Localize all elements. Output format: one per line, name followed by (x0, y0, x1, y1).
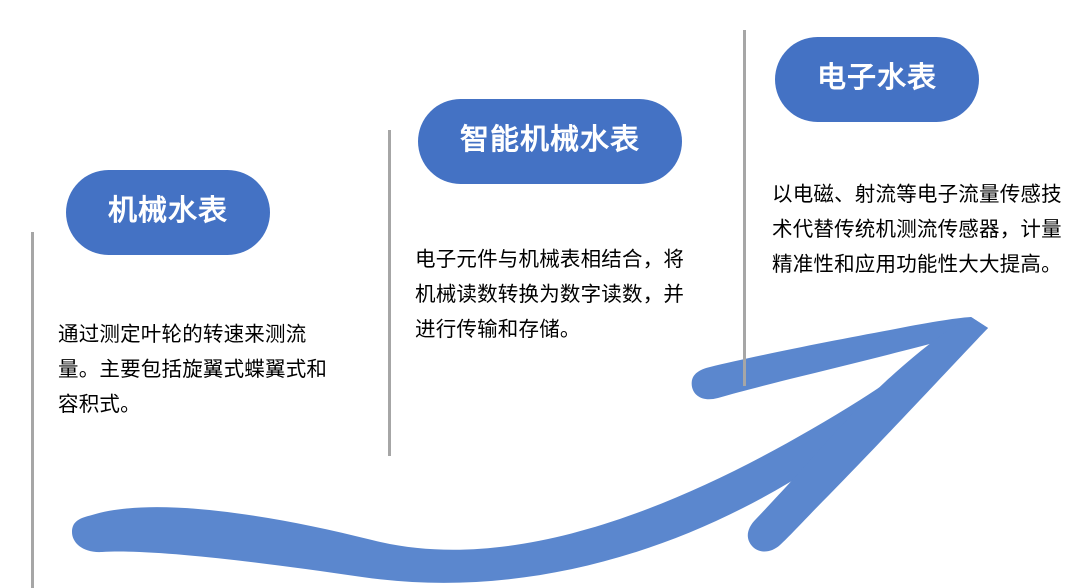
column-smart-mechanical-water-meter: 智能机械水表 电子元件与机械表相结合，将机械读数转换为数字读数，并进行传输和存储… (415, 99, 715, 347)
infographic-canvas: 机械水表 通过测定叶轮的转速来测流量。主要包括旋翼式蝶翼式和容积式。 智能机械水… (0, 0, 1080, 588)
divider-rule-3 (743, 30, 746, 386)
body-text-electronic-water-meter: 以电磁、射流等电子流量传感技术代替传统机测流传感器，计量精准性和应用功能性大大提… (772, 177, 1064, 282)
pill-label-mechanical-water-meter[interactable]: 机械水表 (66, 170, 270, 255)
arrow-barb-lower (748, 317, 988, 552)
divider-rule-1 (31, 232, 34, 588)
divider-rule-2 (388, 130, 391, 456)
pill-label-electronic-water-meter[interactable]: 电子水表 (775, 37, 979, 122)
arrow-barb-upper (692, 317, 988, 399)
body-text-smart-mechanical-water-meter: 电子元件与机械表相结合，将机械读数转换为数字读数，并进行传输和存储。 (415, 242, 691, 347)
body-text-mechanical-water-meter: 通过测定叶轮的转速来测流量。主要包括旋翼式蝶翼式和容积式。 (58, 317, 345, 422)
column-mechanical-water-meter: 机械水表 通过测定叶轮的转速来测流量。主要包括旋翼式蝶翼式和容积式。 (58, 170, 358, 422)
pill-label-smart-mechanical-water-meter[interactable]: 智能机械水表 (418, 99, 682, 184)
column-electronic-water-meter: 电子水表 以电磁、射流等电子流量传感技术代替传统机测流传感器，计量精准性和应用功… (772, 37, 1072, 282)
